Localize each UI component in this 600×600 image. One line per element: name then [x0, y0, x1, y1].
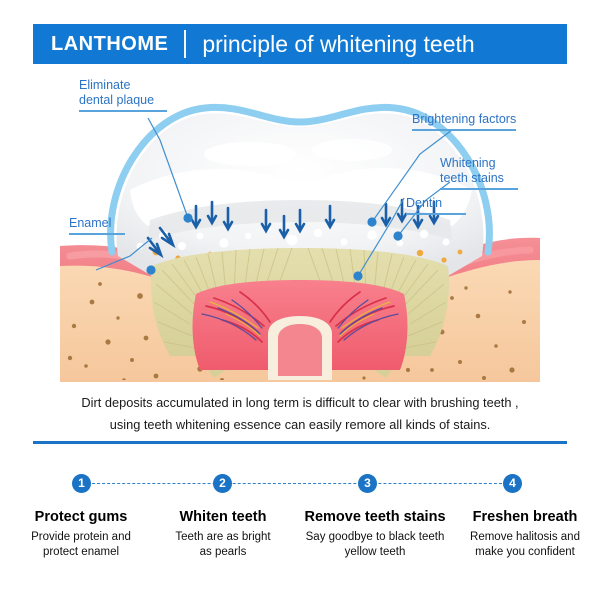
callout-underline [406, 213, 466, 215]
step-desc-line-2: protect enamel [16, 545, 146, 560]
tooth-diagram: Eliminate dental plaque Brightening fact… [0, 70, 600, 390]
step-title: Freshen breath [455, 508, 595, 527]
callout-line-1: Enamel [69, 216, 125, 231]
header-divider [184, 30, 186, 58]
callout-line-1: Whitening [440, 156, 518, 171]
step-item-1: Protect gums Provide protein and protect… [16, 508, 146, 560]
callout-line-1: Eliminate [79, 78, 167, 93]
step-item-4: Freshen breath Remove halitosis and make… [455, 508, 595, 560]
callout-line-1: Brightening factors [412, 112, 516, 127]
tooth-crown [111, 107, 490, 380]
step-title: Whiten teeth [158, 508, 288, 527]
header-bar: LANTHOME principle of whitening teeth [33, 24, 567, 64]
callout-underline [412, 129, 516, 131]
step-title: Remove teeth stains [295, 508, 455, 527]
callout-line-1: Dentin [406, 196, 466, 211]
callout-brightening-factors: Brightening factors [412, 112, 516, 131]
step-desc-line-1: Say goodbye to black teeth [295, 530, 455, 545]
section-divider [33, 441, 567, 444]
brand-name: LANTHOME [33, 24, 184, 64]
step-desc-line-1: Provide protein and [16, 530, 146, 545]
step-marker-2: 2 [213, 474, 232, 493]
description-line-2: using teeth whitening essence can easily… [50, 414, 550, 436]
callout-dentin: Dentin [406, 196, 466, 215]
callout-line-2: dental plaque [79, 93, 167, 108]
benefits-steps: 1 2 3 4 Protect gums Provide protein and… [0, 470, 600, 590]
callout-whitening-teeth-stains: Whitening teeth stains [440, 156, 518, 190]
step-marker-4: 4 [503, 474, 522, 493]
step-item-2: Whiten teeth Teeth are as bright as pear… [158, 508, 288, 560]
step-desc-line-2: make you confident [455, 545, 595, 560]
step-title: Protect gums [16, 508, 146, 527]
description-paragraph: Dirt deposits accumulated in long term i… [50, 392, 550, 436]
step-desc-line-2: as pearls [158, 545, 288, 560]
step-desc-line-1: Remove halitosis and [455, 530, 595, 545]
callout-line-2: teeth stains [440, 171, 518, 186]
steps-connector-line [82, 483, 512, 484]
callout-underline [69, 233, 125, 235]
step-marker-1: 1 [72, 474, 91, 493]
callout-eliminate-dental-plaque: Eliminate dental plaque [79, 78, 167, 112]
callout-underline [440, 188, 518, 190]
step-marker-3: 3 [358, 474, 377, 493]
step-desc-line-1: Teeth are as bright [158, 530, 288, 545]
step-desc-line-2: yellow teeth [295, 545, 455, 560]
page-title: principle of whitening teeth [186, 24, 474, 64]
description-line-1: Dirt deposits accumulated in long term i… [50, 392, 550, 414]
callout-enamel: Enamel [69, 216, 125, 235]
infographic-page: LANTHOME principle of whitening teeth [0, 0, 600, 600]
callout-underline [79, 110, 167, 112]
step-item-3: Remove teeth stains Say goodbye to black… [295, 508, 455, 560]
